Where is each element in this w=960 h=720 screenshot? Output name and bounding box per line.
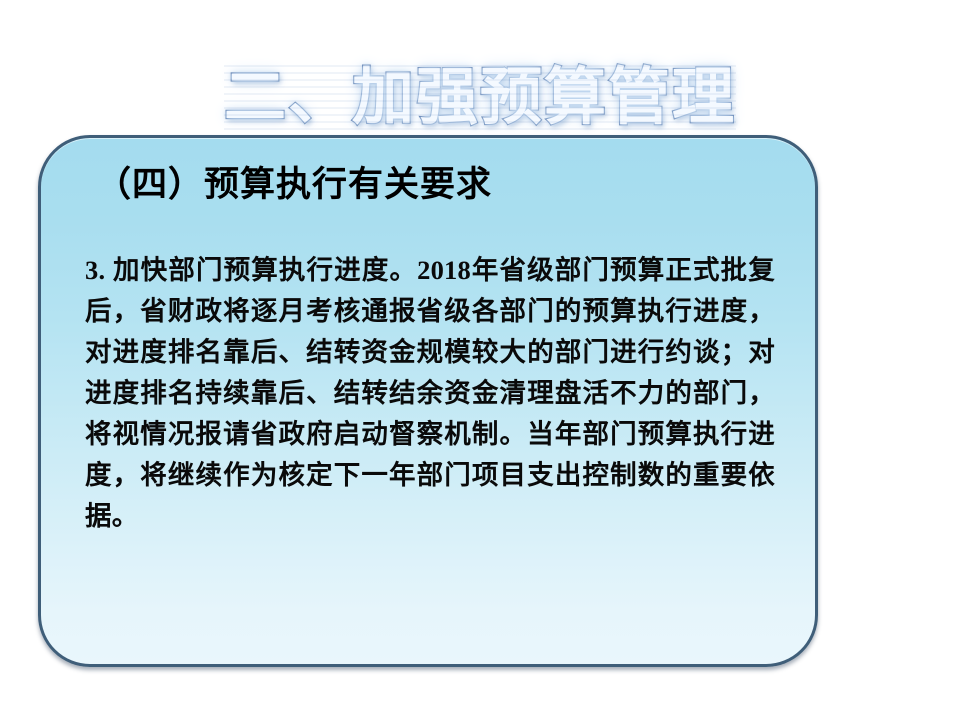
slide-root: 二、加强预算管理 （四）预算执行有关要求 3. 加快部门预算执行进度。2018年… xyxy=(0,0,960,720)
section-heading: （四）预算执行有关要求 xyxy=(96,164,492,206)
body-paragraph: 3. 加快部门预算执行进度。2018年省级部门预算正式批复后，省财政将逐月考核通… xyxy=(85,250,775,537)
page-title: 二、加强预算管理 xyxy=(224,60,736,133)
content-panel: （四）预算执行有关要求 3. 加快部门预算执行进度。2018年省级部门预算正式批… xyxy=(38,135,818,667)
